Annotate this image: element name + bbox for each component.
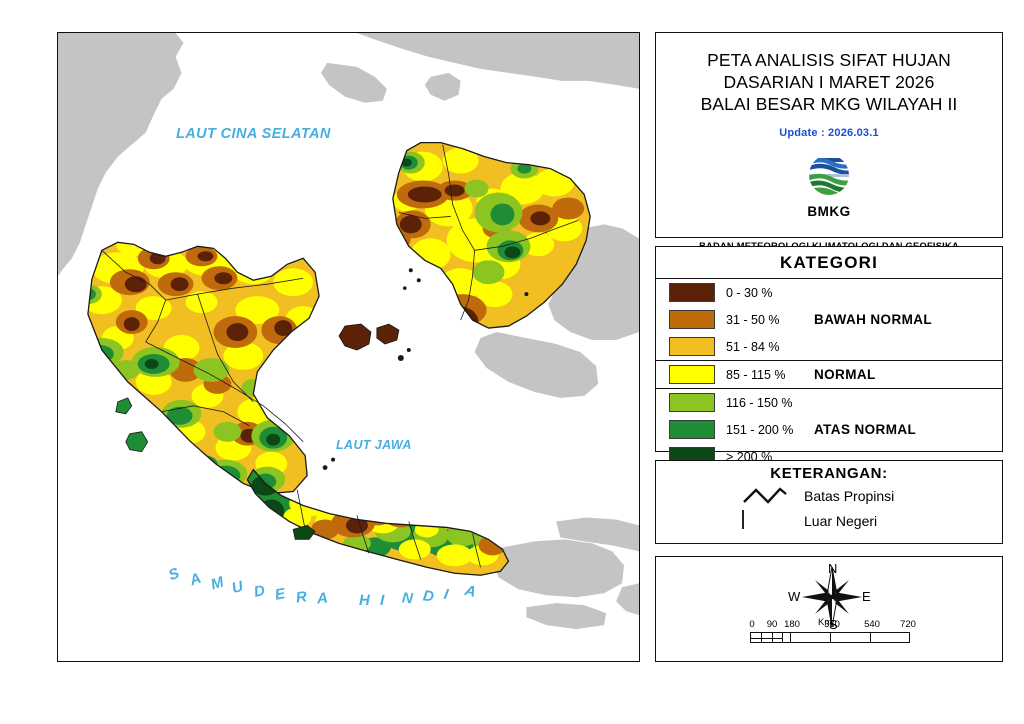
samudera-hindia-char: I: [442, 586, 449, 603]
kategori-group-name: BAWAH NORMAL: [814, 312, 932, 327]
foreign-land-swatch-icon: [742, 511, 788, 531]
legend-range: 151 - 200 %: [726, 423, 814, 437]
samudera-hindia-char: E: [273, 585, 286, 603]
map-title-line-1: PETA ANALISIS SIFAT HUJAN: [656, 49, 1002, 71]
legend-row: 116 - 150 %: [656, 389, 814, 416]
kategori-group-name: ATAS NORMAL: [814, 422, 916, 437]
title-panel: PETA ANALISIS SIFAT HUJAN DASARIAN I MAR…: [655, 32, 1003, 238]
samudera-hindia-char: M: [209, 573, 226, 593]
keterangan-item-batas-propinsi: Batas Propinsi: [656, 483, 1002, 508]
compass-west-label: W: [788, 589, 800, 604]
map-title-line-2: DASARIAN I MARET 2026: [656, 71, 1002, 93]
legend-swatch: [669, 420, 715, 439]
samudera-hindia-char: A: [316, 590, 328, 608]
samudera-hindia-char: N: [401, 590, 413, 608]
kategori-group-normal: 85 - 115 % NORMAL: [656, 360, 1002, 388]
samudera-hindia-char: H: [359, 592, 370, 609]
samudera-hindia-label: SAMUDERAHINDIA: [163, 548, 493, 618]
scale-unit-label: Km: [818, 617, 832, 628]
legend-range: 0 - 30 %: [726, 286, 814, 300]
kategori-panel: KATEGORI 0 - 30 % 31 - 50 % 51 - 84 % BA…: [655, 246, 1003, 452]
keterangan-panel: KETERANGAN: Batas Propinsi Luar Negeri: [655, 460, 1003, 544]
legend-range: 85 - 115 %: [726, 368, 814, 382]
scale-tick: 90: [767, 619, 778, 630]
compass-east-label: E: [862, 589, 871, 604]
map-title-line-3: BALAI BESAR MKG WILAYAH II: [656, 93, 1002, 115]
kategori-group-atas-normal: 116 - 150 % 151 - 200 % > 200 % ATAS NOR…: [656, 388, 1002, 470]
legend-swatch: [669, 365, 715, 384]
scale-segment: [831, 633, 871, 642]
compass-scale-panel: N S W E 0 90 180 360 540 720 Km: [655, 556, 1003, 662]
samudera-hindia-char: A: [188, 569, 204, 589]
legend-row: 0 - 30 %: [656, 279, 814, 306]
legend-range: 116 - 150 %: [726, 396, 814, 410]
keterangan-item-luar-negeri: Luar Negeri: [656, 508, 1002, 533]
keterangan-label: Luar Negeri: [804, 513, 877, 529]
province-boundary-icon: [742, 486, 788, 506]
compass-north-label: N: [828, 561, 837, 576]
scale-tick: 720: [900, 619, 916, 630]
scale-segment: [762, 633, 773, 642]
kategori-heading: KATEGORI: [656, 247, 1002, 279]
legend-row: 31 - 50 %: [656, 306, 814, 333]
legend-swatch: [669, 393, 715, 412]
samudera-hindia-char: S: [166, 565, 182, 585]
samudera-hindia-char: D: [252, 582, 266, 601]
legend-row: 51 - 84 %: [656, 333, 814, 360]
legend-range: 51 - 84 %: [726, 340, 814, 354]
bmkg-wordmark: BMKG: [656, 201, 1002, 223]
legend-swatch: [669, 337, 715, 356]
scale-tick: 0: [749, 619, 754, 630]
scale-segment: [751, 633, 762, 642]
legend-swatch: [669, 310, 715, 329]
map-frame[interactable]: LAUT CINA SELATAN LAUT JAWA SAMUDERAHIND…: [57, 32, 640, 662]
legend-row: 151 - 200 %: [656, 416, 814, 443]
kategori-group-name: NORMAL: [814, 367, 876, 382]
keterangan-label: Batas Propinsi: [804, 488, 894, 504]
bmkg-logo-icon: [802, 150, 856, 204]
samudera-hindia-char: A: [463, 582, 477, 601]
keterangan-heading: KETERANGAN:: [656, 461, 1002, 483]
update-date: Update : 2026.03.1: [656, 122, 1002, 144]
scale-segment: [791, 633, 831, 642]
scale-tick: 180: [784, 619, 800, 630]
legend-swatch: [669, 283, 715, 302]
legend-row: 85 - 115 %: [656, 361, 814, 388]
samudera-hindia-char: R: [295, 588, 308, 606]
kategori-group-bawah-normal: 0 - 30 % 31 - 50 % 51 - 84 % BAWAH NORMA…: [656, 279, 1002, 360]
scale-tick: 540: [864, 619, 880, 630]
scale-segment: [783, 633, 791, 642]
samudera-hindia-char: D: [422, 588, 435, 606]
scale-segment: [871, 633, 909, 642]
scale-bar-segments: [750, 632, 910, 643]
legend-range: 31 - 50 %: [726, 313, 814, 327]
samudera-hindia-char: I: [380, 592, 385, 609]
samudera-hindia-char: U: [230, 578, 245, 597]
scale-segment: [773, 633, 783, 642]
